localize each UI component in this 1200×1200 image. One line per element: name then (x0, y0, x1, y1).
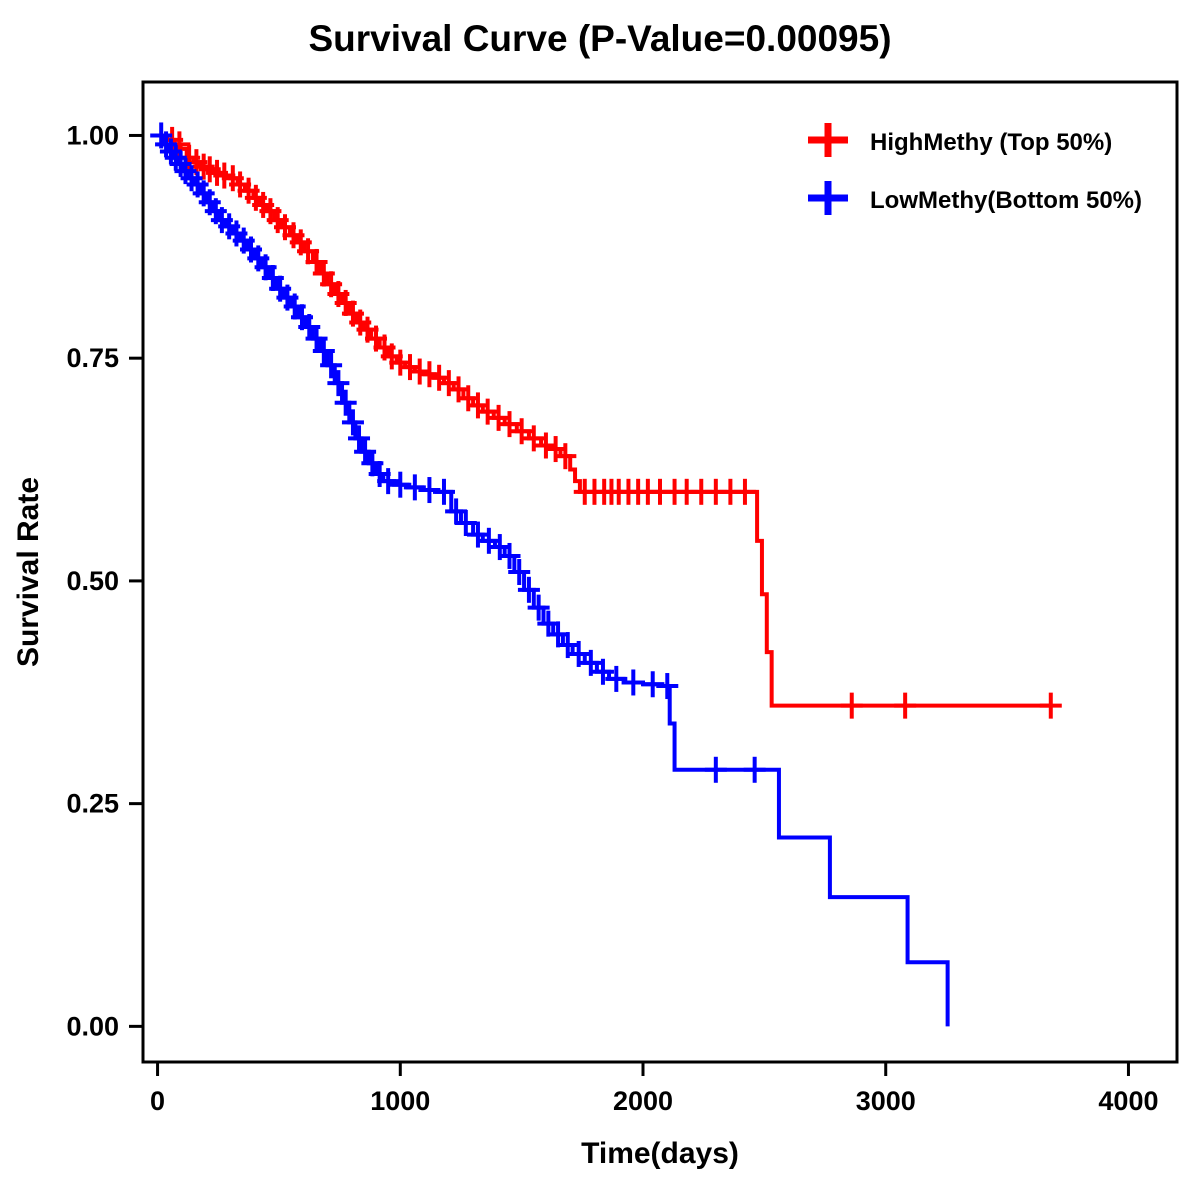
x-tick-label: 3000 (856, 1086, 916, 1116)
y-tick-label: 0.00 (66, 1011, 119, 1041)
y-tick-label: 0.50 (66, 566, 119, 596)
y-tick-label: 1.00 (66, 120, 119, 150)
legend-label: HighMethy (Top 50%) (870, 129, 1112, 156)
x-tick-label: 4000 (1098, 1086, 1158, 1116)
x-axis-title: Time(days) (581, 1137, 739, 1170)
y-tick-label: 0.25 (66, 789, 119, 819)
x-tick-label: 2000 (613, 1086, 673, 1116)
x-tick-label: 1000 (370, 1086, 430, 1116)
y-axis-ticks: 0.000.250.500.751.00 (66, 120, 143, 1041)
y-axis-title: Survival Rate (12, 477, 45, 667)
survival-curve-figure: Survival Curve (P-Value=0.00095) 0.000.2… (0, 0, 1200, 1200)
x-tick-label: 0 (150, 1086, 165, 1116)
y-tick-label: 0.75 (66, 343, 119, 373)
x-axis-ticks: 01000200030004000 (150, 1062, 1158, 1116)
legend-label: LowMethy(Bottom 50%) (870, 187, 1142, 214)
plot-panel-background (143, 82, 1177, 1062)
survival-plot: 0.000.250.500.751.00 01000200030004000 H… (0, 0, 1200, 1200)
